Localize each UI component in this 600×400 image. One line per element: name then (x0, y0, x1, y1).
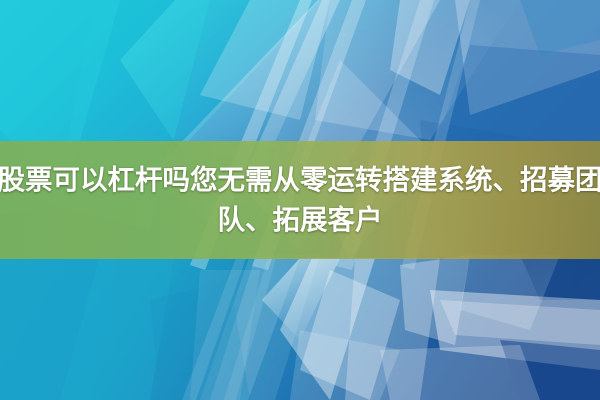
caption-text-block: 股票可以杠杆吗您无需从零运转搭建系统、招募团 队、拓展客户 (0, 141, 600, 259)
caption-line-1: 股票可以杠杆吗您无需从零运转搭建系统、招募团 (0, 160, 600, 200)
banner-image: 股票可以杠杆吗您无需从零运转搭建系统、招募团 队、拓展客户 (0, 0, 600, 400)
caption-line-2: 队、拓展客户 (218, 200, 383, 240)
